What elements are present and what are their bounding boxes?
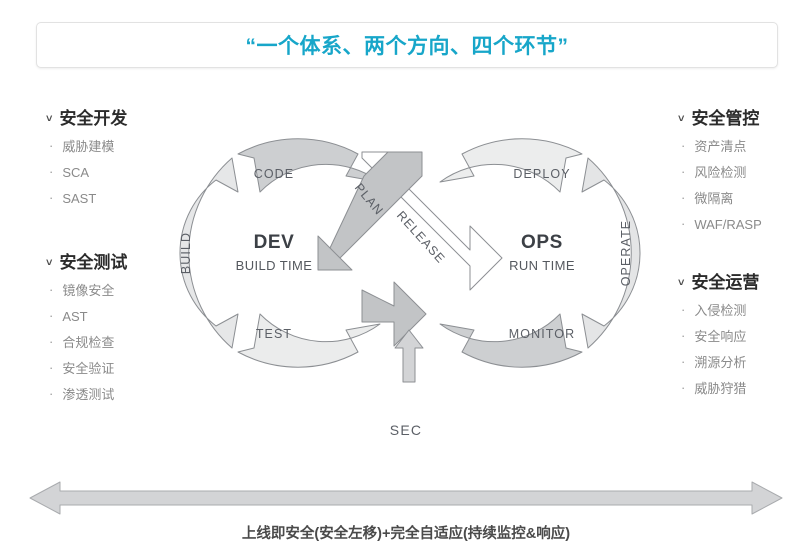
core-label-dev: DEV	[254, 232, 295, 253]
segment-label-deploy: DEPLOY	[513, 167, 570, 181]
segment-label-operate: OPERATE	[619, 220, 633, 287]
segment-label-test: TEST	[256, 327, 292, 341]
list-item[interactable]: · SAST	[46, 192, 127, 205]
list-item-label: 溯源分析	[694, 356, 746, 369]
list-item-label: 威胁狩猎	[694, 382, 746, 395]
panel-item-list: · 资产清点 · 风险检测 · 微隔离 · WAF/RASP	[678, 140, 762, 231]
panel-secure-development: ˅ 安全开发 · 威胁建模 · SCA · SAST	[46, 104, 127, 218]
panel-item-list: · 入侵检测 · 安全响应 · 溯源分析 · 威胁狩猎	[678, 304, 759, 395]
infinity-svg: CODE BUILD TEST DEPLOY OPERATE MONITOR P…	[150, 130, 670, 390]
list-item-label: SAST	[62, 192, 96, 205]
bottom-arrow-bar	[0, 478, 812, 523]
bullet-icon: ·	[681, 191, 685, 204]
bullet-icon: ·	[681, 217, 685, 230]
chevron-down-icon: ˅	[678, 277, 684, 289]
list-item-label: 风险检测	[694, 166, 746, 179]
bullet-icon: ·	[681, 355, 685, 368]
list-item-label: 渗透测试	[62, 388, 114, 401]
list-item-label: 合规检查	[62, 336, 114, 349]
panel-heading[interactable]: ˅ 安全测试	[46, 248, 127, 273]
list-item-label: 镜像安全	[62, 284, 114, 297]
chevron-down-icon: ˅	[46, 113, 52, 125]
panel-item-list: · 镜像安全 · AST · 合规检查 · 安全验证 · 渗透测试	[46, 284, 127, 401]
page-title: “一个体系、两个方向、四个环节”	[246, 30, 569, 60]
list-item[interactable]: · 合规检查	[46, 336, 127, 349]
bullet-icon: ·	[49, 335, 53, 348]
list-item[interactable]: · SCA	[46, 166, 127, 179]
panel-heading-label: 安全开发	[59, 104, 127, 129]
list-item-label: AST	[62, 310, 87, 323]
panel-item-list: · 威胁建模 · SCA · SAST	[46, 140, 127, 205]
panel-heading-label: 安全管控	[691, 104, 759, 129]
panel-heading-label: 安全运营	[691, 268, 759, 293]
segment-label-code: CODE	[254, 167, 295, 181]
core-sublabel-build-time: BUILD TIME	[236, 258, 313, 273]
panel-security-control: ˅ 安全管控 · 资产清点 · 风险检测 · 微隔离 · WAF/RASP	[678, 104, 762, 244]
bullet-icon: ·	[681, 381, 685, 394]
bullet-icon: ·	[681, 303, 685, 316]
bullet-icon: ·	[49, 191, 53, 204]
bullet-icon: ·	[49, 387, 53, 400]
devsecops-infographic: “一个体系、两个方向、四个环节” ˅ 安全开发 · 威胁建模 · SCA · S…	[0, 0, 812, 558]
list-item[interactable]: · 威胁狩猎	[678, 382, 759, 395]
sec-label: SEC	[0, 422, 812, 438]
list-item[interactable]: · 入侵检测	[678, 304, 759, 317]
bullet-icon: ·	[681, 329, 685, 342]
list-item[interactable]: · 风险检测	[678, 166, 762, 179]
list-item[interactable]: · 微隔离	[678, 192, 762, 205]
panel-heading[interactable]: ˅ 安全运营	[678, 268, 759, 293]
list-item[interactable]: · 资产清点	[678, 140, 762, 153]
bullet-icon: ·	[49, 283, 53, 296]
list-item-label: 威胁建模	[62, 140, 114, 153]
chevron-down-icon: ˅	[678, 113, 684, 125]
list-item[interactable]: · 渗透测试	[46, 388, 127, 401]
panel-security-operations: ˅ 安全运营 · 入侵检测 · 安全响应 · 溯源分析 · 威胁狩猎	[678, 268, 759, 408]
list-item[interactable]: · 威胁建模	[46, 140, 127, 153]
panel-secure-testing: ˅ 安全测试 · 镜像安全 · AST · 合规检查 · 安全验证 · 渗透测试	[46, 248, 127, 414]
chevron-down-icon: ˅	[46, 257, 52, 269]
bottom-caption: 上线即安全(安全左移)+完全自适应(持续监控&响应)	[0, 522, 812, 543]
bullet-icon: ·	[49, 139, 53, 152]
bullet-icon: ·	[49, 361, 53, 374]
list-item[interactable]: · WAF/RASP	[678, 218, 762, 231]
list-item[interactable]: · AST	[46, 310, 127, 323]
bullet-icon: ·	[681, 139, 685, 152]
list-item-label: SCA	[62, 166, 89, 179]
list-item-label: 入侵检测	[694, 304, 746, 317]
bullet-icon: ·	[49, 165, 53, 178]
panel-heading[interactable]: ˅ 安全管控	[678, 104, 762, 129]
list-item[interactable]: · 溯源分析	[678, 356, 759, 369]
list-item-label: 安全响应	[694, 330, 746, 343]
list-item[interactable]: · 镜像安全	[46, 284, 127, 297]
segment-label-build: BUILD	[179, 232, 193, 274]
list-item-label: 安全验证	[62, 362, 114, 375]
bullet-icon: ·	[49, 309, 53, 322]
devsecops-infinity-diagram: CODE BUILD TEST DEPLOY OPERATE MONITOR P…	[150, 130, 670, 395]
double-arrow-svg	[0, 478, 812, 518]
list-item-label: 资产清点	[694, 140, 746, 153]
panel-heading-label: 安全测试	[59, 248, 127, 273]
segment-deploy[interactable]	[440, 139, 582, 192]
title-box: “一个体系、两个方向、四个环节”	[36, 22, 778, 68]
double-arrow-icon	[30, 482, 782, 514]
core-label-ops: OPS	[521, 232, 563, 253]
panel-heading[interactable]: ˅ 安全开发	[46, 104, 127, 129]
list-item[interactable]: · 安全验证	[46, 362, 127, 375]
list-item-label: 微隔离	[694, 192, 733, 205]
list-item-label: WAF/RASP	[694, 218, 761, 231]
list-item[interactable]: · 安全响应	[678, 330, 759, 343]
segment-plan-tail[interactable]	[362, 282, 426, 346]
core-sublabel-run-time: RUN TIME	[509, 258, 575, 273]
segment-label-monitor: MONITOR	[509, 327, 576, 341]
bullet-icon: ·	[681, 165, 685, 178]
